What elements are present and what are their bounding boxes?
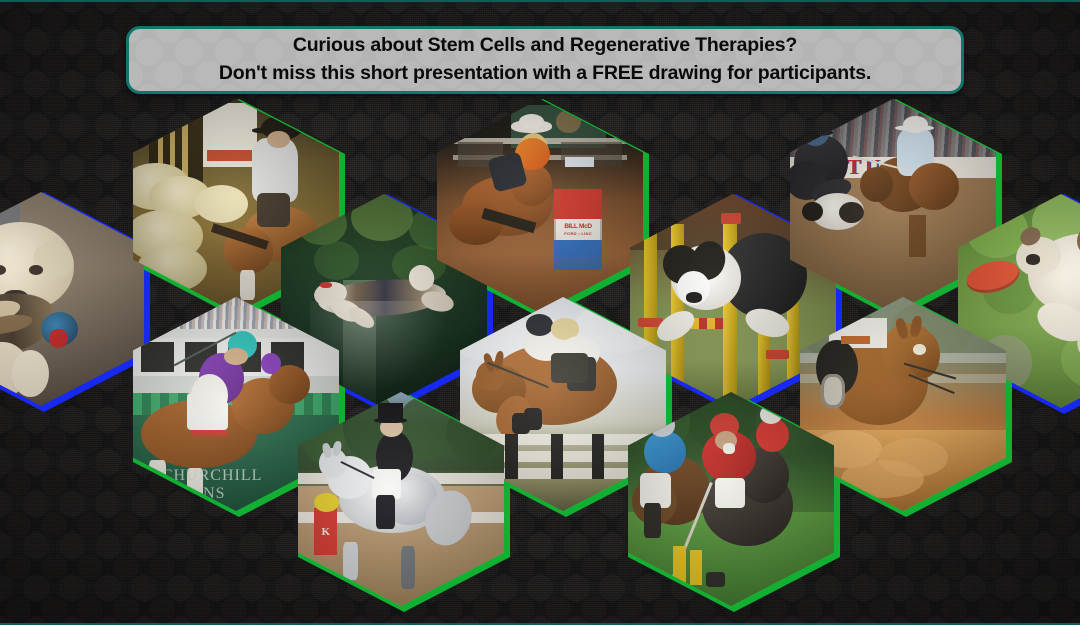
promo-banner: Curious about Stem Cells and Regenerativ… [126,26,964,94]
gundog-retrieving-pheasant [0,192,150,412]
frame-line-top [0,0,1080,2]
gundog-retrieving-pheasant-photo [0,192,144,406]
promo-graphic: BILL McD FORD • LINC TUCSO [0,0,1080,625]
banner-headline-line2: Don't miss this short presentation with … [219,60,871,88]
gundog-retrieving-pheasant-photo-content [0,192,144,406]
banner-headline-line1: Curious about Stem Cells and Regenerativ… [293,32,797,60]
